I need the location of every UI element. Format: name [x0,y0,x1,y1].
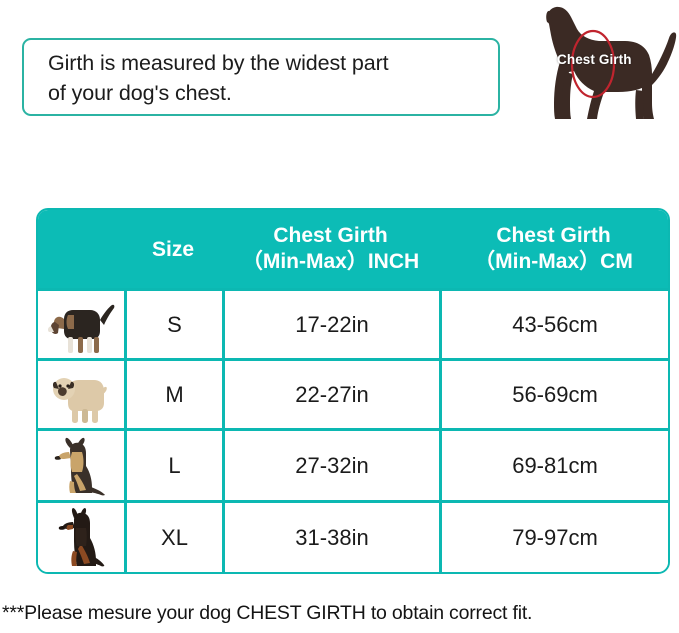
table-header-cm: Chest Girth （Min-Max）CM [439,210,668,288]
table-header-inch: Chest Girth （Min-Max）INCH [222,210,439,288]
dog-rear-leg [635,90,644,119]
dog-size-table: Size Chest Girth （Min-Max）INCH Chest Gir… [36,208,670,574]
table-row: L 27-32in 69-81cm [38,428,668,500]
table-header-row: Size Chest Girth （Min-Max）INCH Chest Gir… [38,210,668,288]
table-row: XL 31-38in 79-97cm [38,500,668,572]
table-header-inch-line2: （Min-Max）INCH [242,248,419,275]
cm-cell: 79-97cm [439,503,668,572]
footer-note: ***Please mesure your dog CHEST GIRTH to… [2,602,532,625]
cm-cell: 56-69cm [439,361,668,428]
size-cell: M [124,361,222,428]
inch-cell: 22-27in [222,361,439,428]
inch-cell: 17-22in [222,291,439,358]
table-header-size: Size [124,210,222,288]
beagle-icon [44,295,118,355]
table-header-inch-line1: Chest Girth [273,223,387,248]
inch-cell: 27-32in [222,431,439,500]
chest-girth-label: Chest Girth [557,52,632,67]
cm-cell: 69-81cm [439,431,668,500]
table-row: M 22-27in 56-69cm [38,358,668,428]
inch-cell: 31-38in [222,503,439,572]
cm-cell: 43-56cm [439,291,668,358]
breed-image-cell [38,361,124,428]
pug-icon [44,365,118,425]
breed-image-cell [38,431,124,500]
girth-callout-box: Girth is measured by the widest part of … [22,38,500,116]
table-header-size-label: Size [152,236,194,263]
girth-callout-text: Girth is measured by the widest part of … [48,48,488,108]
table-header-image [38,210,124,288]
table-row: S 17-22in 43-56cm [38,288,668,358]
table-header-cm-line1: Chest Girth [496,223,610,248]
breed-image-cell [38,291,124,358]
doberman-icon [44,508,118,568]
size-cell: S [124,291,222,358]
breed-image-cell [38,503,124,572]
dog-silhouette-diagram: Chest Girth [505,2,679,126]
size-cell: XL [124,503,222,572]
size-cell: L [124,431,222,500]
table-header-cm-line2: （Min-Max）CM [474,248,633,275]
german-shepherd-icon [44,436,118,496]
